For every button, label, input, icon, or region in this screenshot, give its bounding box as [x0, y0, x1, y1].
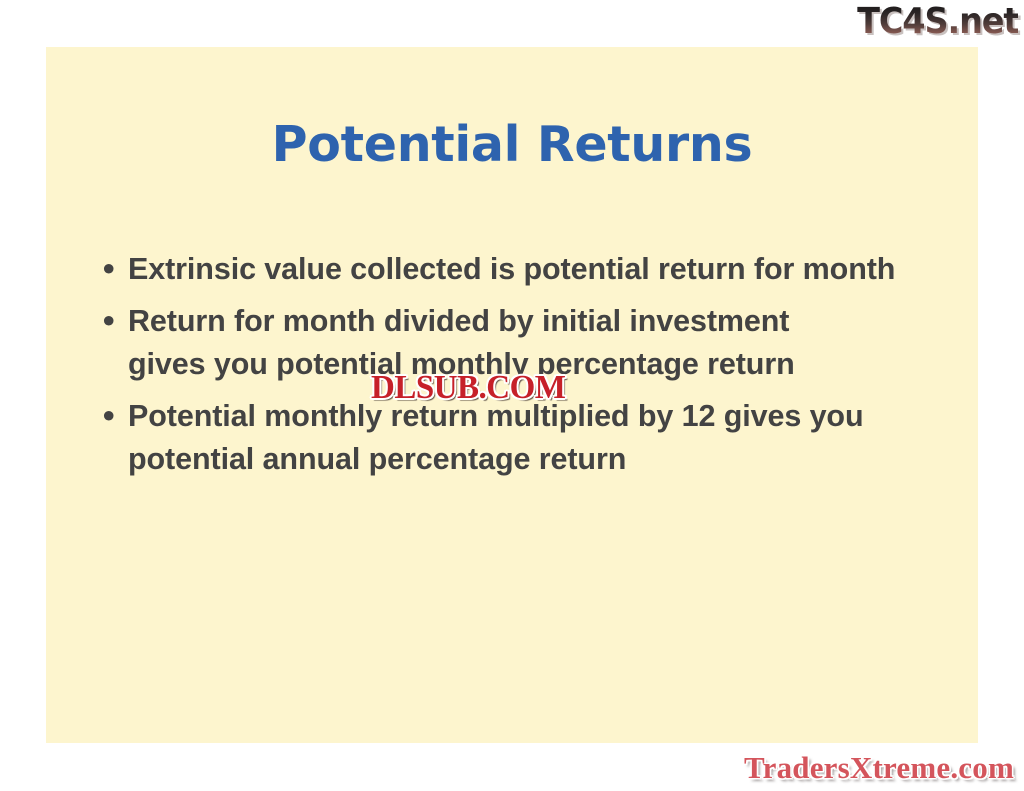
dlsub-watermark: DLSUB.COM — [371, 371, 565, 405]
tradersxtreme-logo: TradersXtreme.com — [744, 749, 1014, 787]
list-item: • Potential monthly return multiplied by… — [96, 395, 956, 481]
list-item-label: Potential monthly return multiplied by 1… — [128, 395, 928, 481]
list-item-label: Extrinsic value collected is potential r… — [128, 248, 898, 291]
bullet-point-icon: • — [96, 395, 128, 438]
bullet-point-icon: • — [96, 248, 128, 291]
slide-title: Potential Returns — [46, 116, 978, 174]
list-item: • Extrinsic value collected is potential… — [96, 248, 956, 291]
slide-stage: Potential Returns • Extrinsic value coll… — [0, 0, 1024, 791]
tc4s-logo: TC4S.net — [857, 2, 1018, 42]
bullet-point-icon: • — [96, 300, 128, 343]
